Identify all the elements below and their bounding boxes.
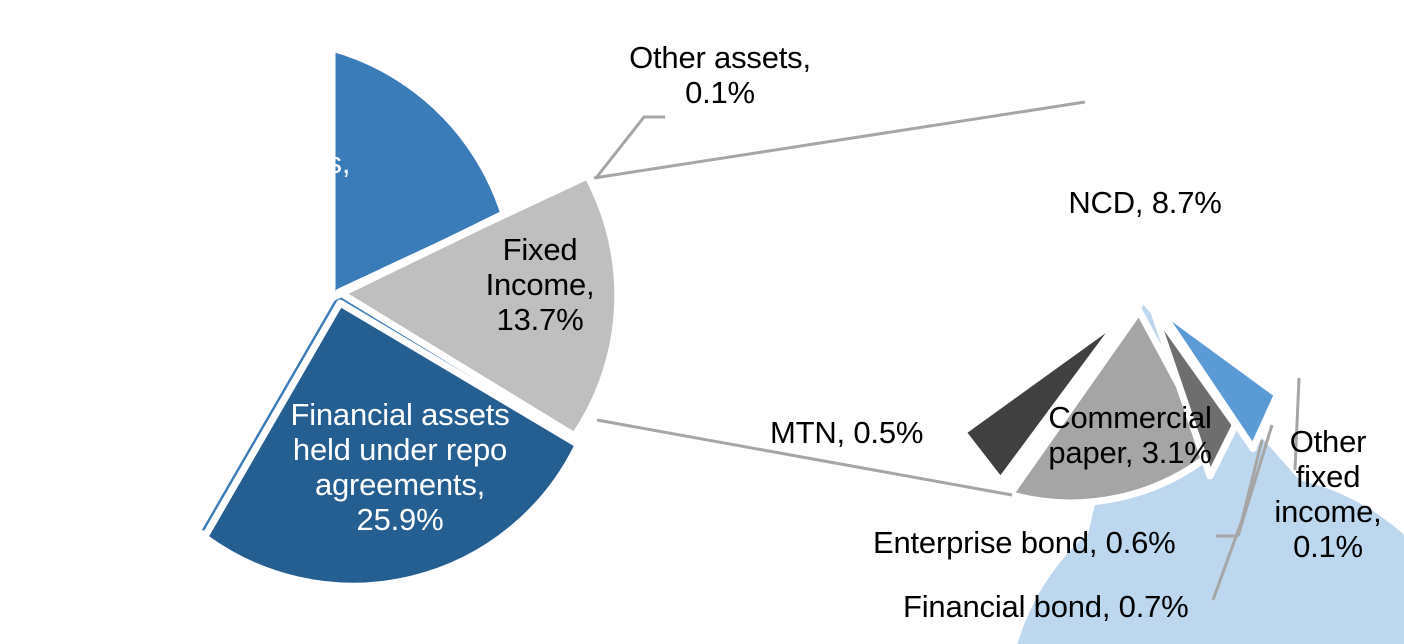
label-financial-bond: Financial bond, 0.7% (903, 589, 1243, 624)
label-ncd: NCD, 8.7% (1030, 185, 1260, 220)
label-fixed-income: Fixed Income, 13.7% (465, 232, 615, 337)
label-commercial-paper: Commercial paper, 3.1% (1020, 400, 1240, 470)
label-bank-deposits: Bank deposits, 60.3% (120, 145, 380, 215)
label-other-fixed-income: Other fixed income, 0.1% (1252, 424, 1404, 564)
pie-chart-figure: Bank deposits, 60.3% Fixed Income, 13.7%… (0, 0, 1404, 644)
connector-fixed-income-top (594, 102, 1085, 178)
label-repo: Financial assets held under repo agreeme… (250, 397, 550, 537)
label-enterprise-bond: Enterprise bond, 0.6% (873, 525, 1223, 560)
label-other-assets: Other assets, 0.1% (605, 40, 835, 110)
label-mtn: MTN, 0.5% (770, 415, 970, 450)
